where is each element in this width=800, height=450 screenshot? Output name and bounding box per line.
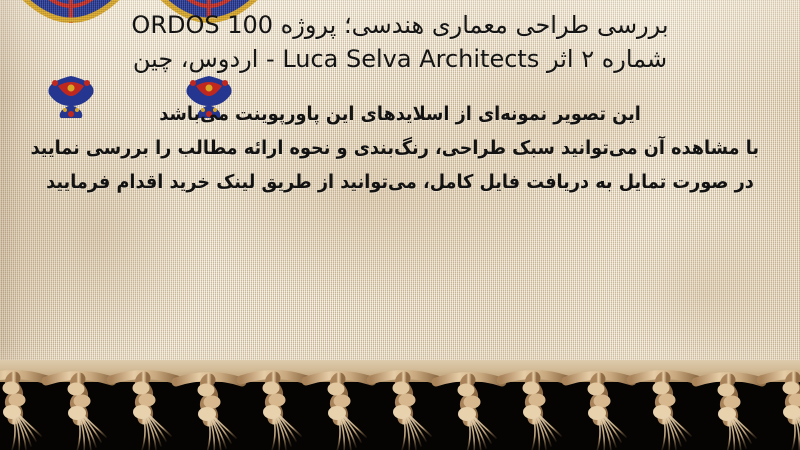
slide-title-line-2-rtl-b: - اردوس، چین [133,45,282,73]
slide-body-line-3: در صورت تمایل به دریافت فایل کامل، می‌تو… [41,166,759,200]
slide-canvas: بررسی طراحی معماری هندسی؛ پروژه ORDOS 10… [0,0,800,450]
slide-body-line-1: این تصویر نمونه‌ای از اسلایدهای این پاور… [41,98,759,132]
slide-body-line-2: با مشاهده آن می‌توانید سبک طراحی، رنگ‌بن… [41,132,759,166]
slide-body: این تصویر نمونه‌ای از اسلایدهای این پاور… [14,98,786,199]
slide-title-line-1-ltr: ORDOS 100 [131,11,273,39]
slide-title-line-1: بررسی طراحی معماری هندسی؛ پروژه ORDOS 10… [14,8,786,42]
carpet-fringe-band [0,360,800,450]
slide-title-line-1-rtl: بررسی طراحی معماری هندسی؛ پروژه [273,11,669,39]
slide-title-line-2: شماره ۲ اثر Luca Selva Architects - اردو… [14,42,786,76]
slide-title: بررسی طراحی معماری هندسی؛ پروژه ORDOS 10… [14,8,786,76]
slide-title-line-2-ltr: Luca Selva Architects [282,45,539,73]
carpet-fringe-tassels [0,360,800,450]
slide-title-line-2-rtl-a: شماره ۲ اثر [539,45,667,73]
slide-text-content: بررسی طراحی معماری هندسی؛ پروژه ORDOS 10… [0,0,800,378]
